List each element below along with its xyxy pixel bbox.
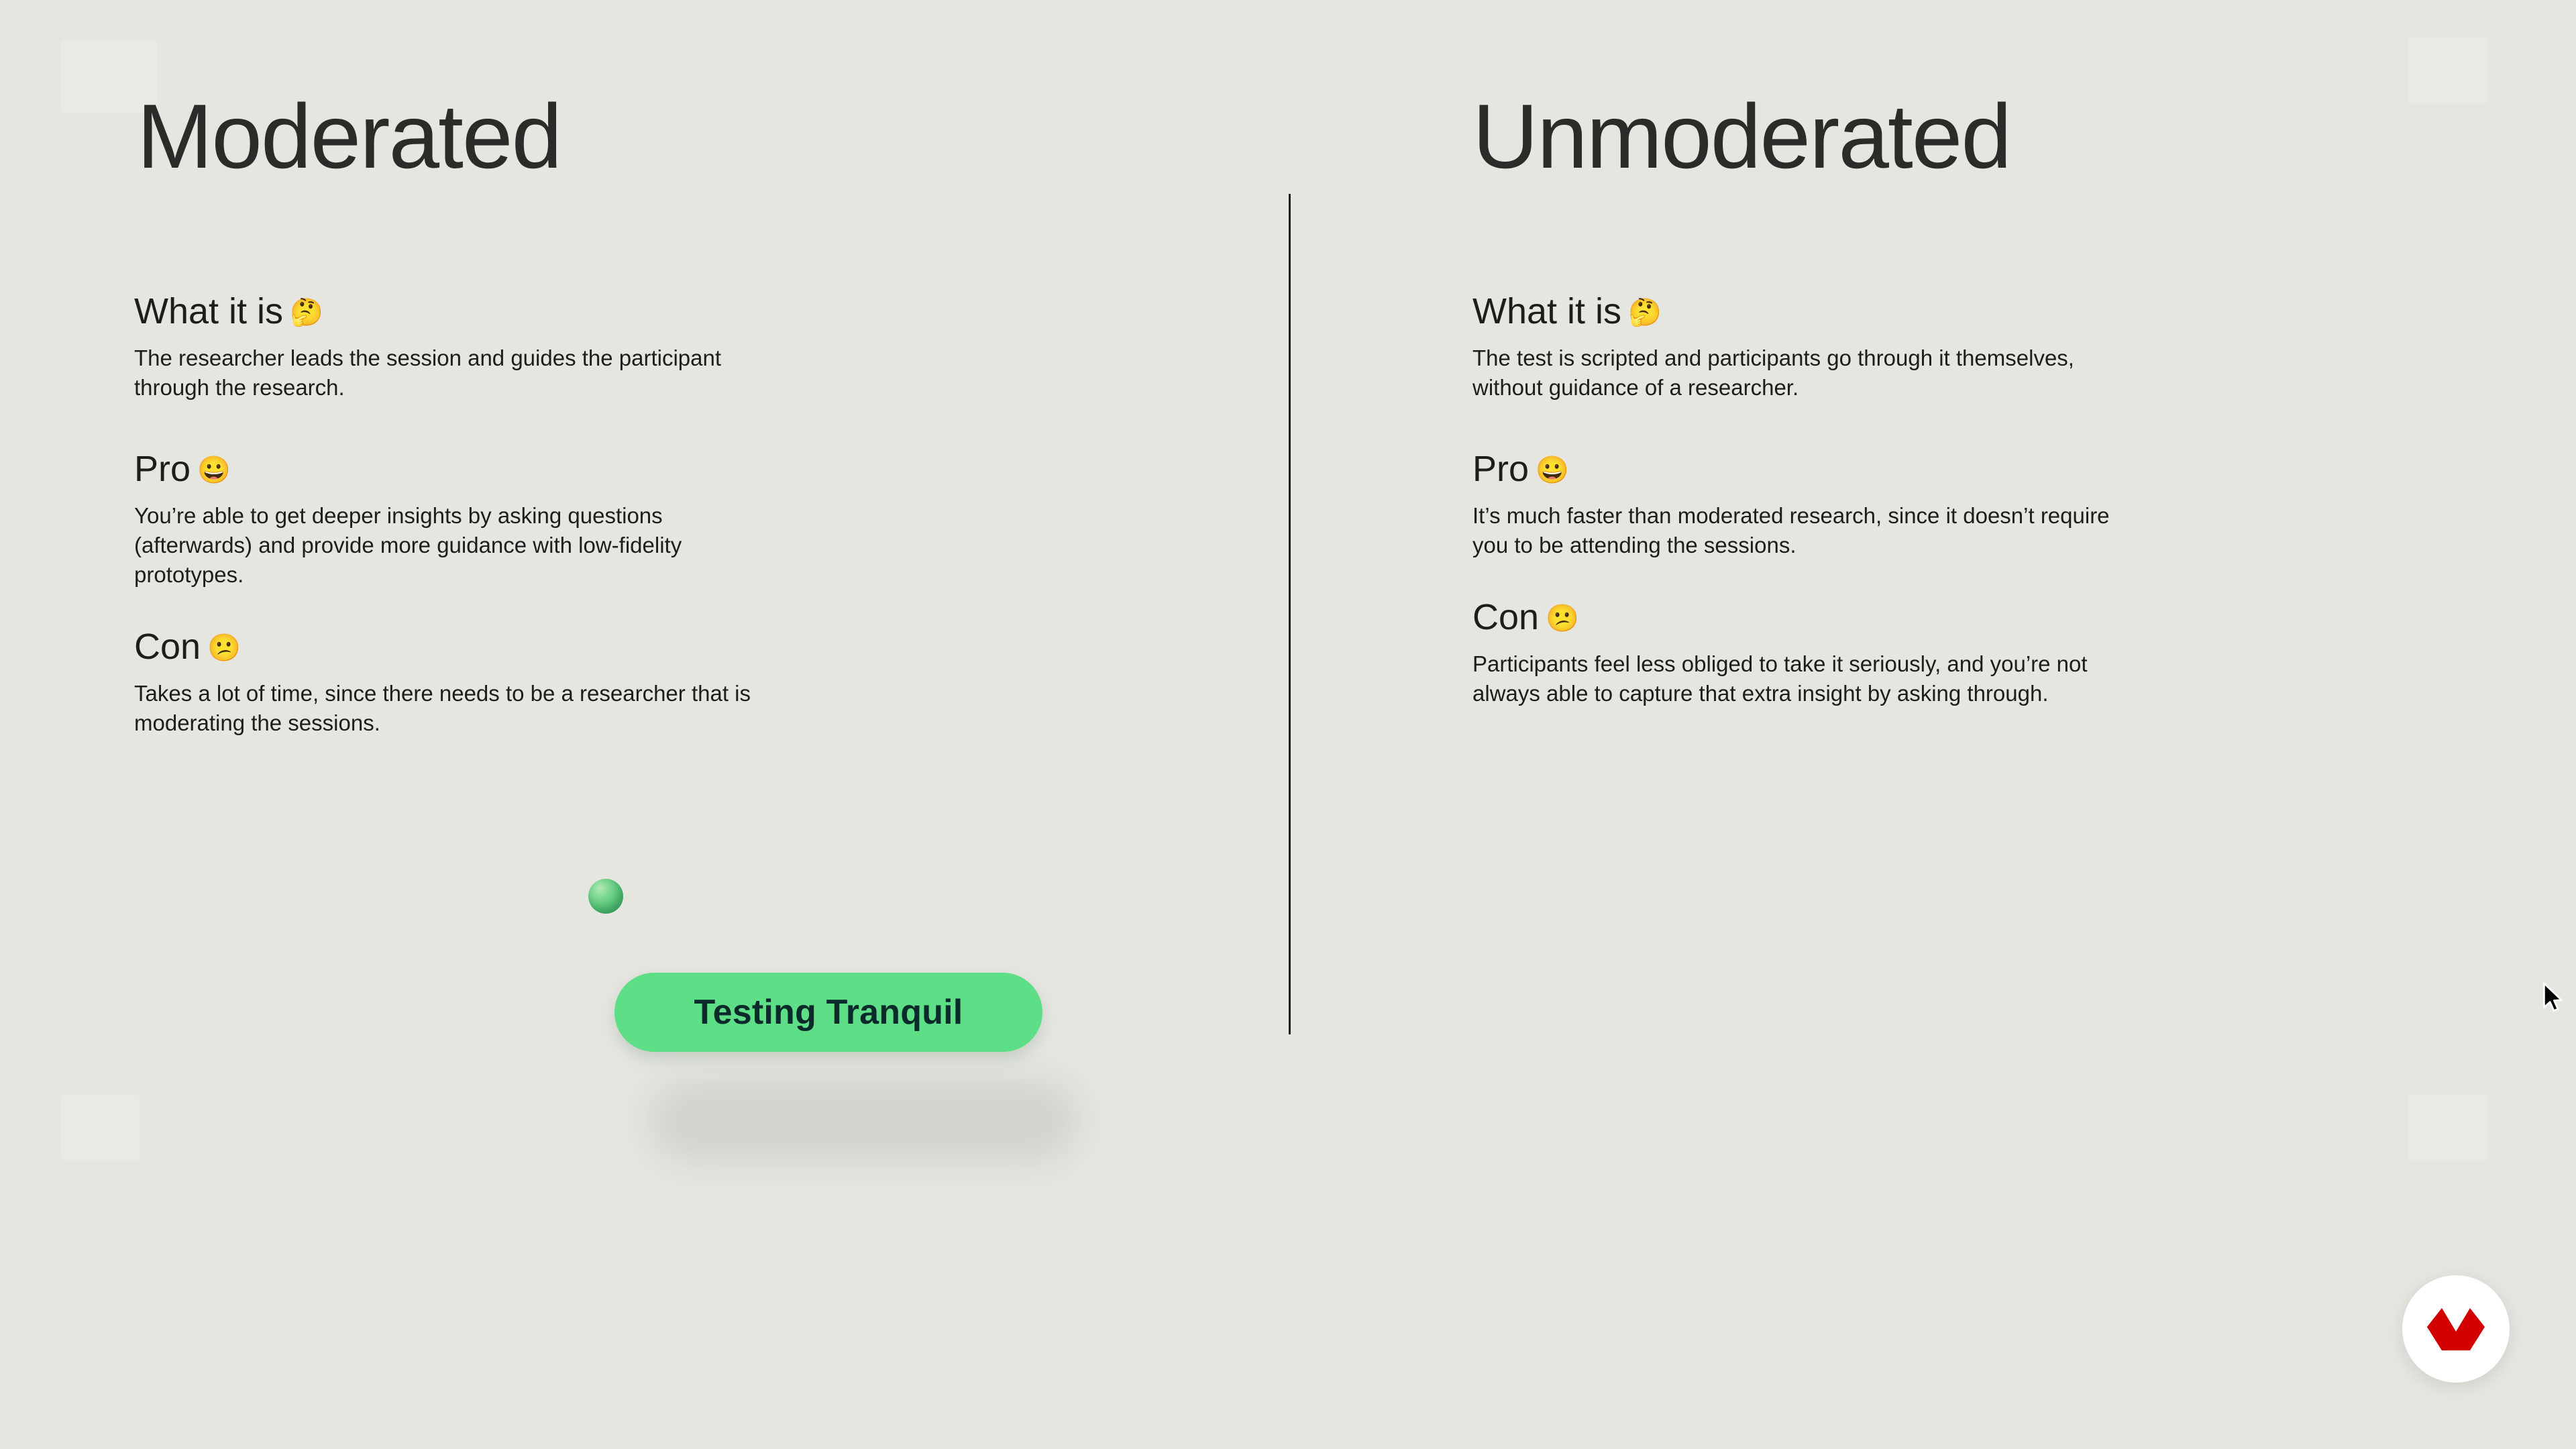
column-title-moderated: Moderated [137, 91, 561, 182]
corner-placeholder-bottom-right [2408, 1095, 2487, 1161]
brand-logo-button[interactable] [2402, 1275, 2510, 1383]
section-body-text: Takes a lot of time, since there needs t… [134, 679, 765, 738]
section-pro: Pro 😀 You’re able to get deeper insights… [134, 449, 1207, 590]
green-sphere-decoration [588, 879, 623, 914]
section-heading-label: Con [134, 627, 201, 666]
grinning-face-emoji: 😀 [197, 457, 231, 484]
section-heading-label: Pro [134, 449, 191, 488]
cta-button-shadow [649, 1080, 1077, 1161]
maze-chevron-icon [2427, 1304, 2485, 1354]
section-heading: Pro 😀 [134, 449, 1207, 488]
section-spacer [134, 402, 1207, 449]
column-divider [1289, 194, 1291, 1034]
section-con: Con 😕 Takes a lot of time, since there n… [134, 627, 1207, 738]
section-heading: Con 😕 [1472, 598, 2546, 637]
section-what-it-is: What it is 🤔 The test is scripted and pa… [1472, 292, 2546, 402]
section-heading-label: Pro [1472, 449, 1529, 488]
section-body-text: It’s much faster than moderated research… [1472, 501, 2133, 560]
section-heading-label: What it is [1472, 292, 1621, 331]
section-spacer [134, 590, 1207, 627]
section-spacer [1472, 402, 2546, 449]
slide-canvas: Moderated What it is 🤔 The researcher le… [0, 0, 2576, 1449]
section-con: Con 😕 Participants feel less obliged to … [1472, 598, 2546, 708]
thinking-face-emoji: 🤔 [290, 299, 323, 326]
corner-placeholder-bottom-left [60, 1095, 140, 1161]
section-heading-label: Con [1472, 598, 1539, 637]
section-pro: Pro 😀 It’s much faster than moderated re… [1472, 449, 2546, 560]
section-what-it-is: What it is 🤔 The researcher leads the se… [134, 292, 1207, 402]
section-heading-label: What it is [134, 292, 283, 331]
section-spacer [1472, 560, 2546, 598]
section-body-text: The test is scripted and participants go… [1472, 343, 2133, 402]
grinning-face-emoji: 😀 [1536, 457, 1569, 484]
section-list-moderated: What it is 🤔 The researcher leads the se… [134, 292, 1207, 738]
section-heading: Pro 😀 [1472, 449, 2546, 488]
section-heading: Con 😕 [134, 627, 1207, 666]
section-heading: What it is 🤔 [1472, 292, 2546, 331]
section-body-text: The researcher leads the session and gui… [134, 343, 765, 402]
section-heading: What it is 🤔 [134, 292, 1207, 331]
section-list-unmoderated: What it is 🤔 The test is scripted and pa… [1472, 292, 2546, 708]
corner-placeholder-top-right [2408, 38, 2487, 103]
column-title-unmoderated: Unmoderated [1472, 91, 2010, 182]
section-body-text: You’re able to get deeper insights by as… [134, 501, 765, 590]
confused-face-emoji: 😕 [207, 635, 241, 661]
thinking-face-emoji: 🤔 [1628, 299, 1662, 326]
testing-tranquil-button[interactable]: Testing Tranquil [614, 973, 1042, 1052]
mouse-cursor [2542, 982, 2565, 1014]
section-body-text: Participants feel less obliged to take i… [1472, 649, 2133, 708]
confused-face-emoji: 😕 [1546, 605, 1579, 632]
